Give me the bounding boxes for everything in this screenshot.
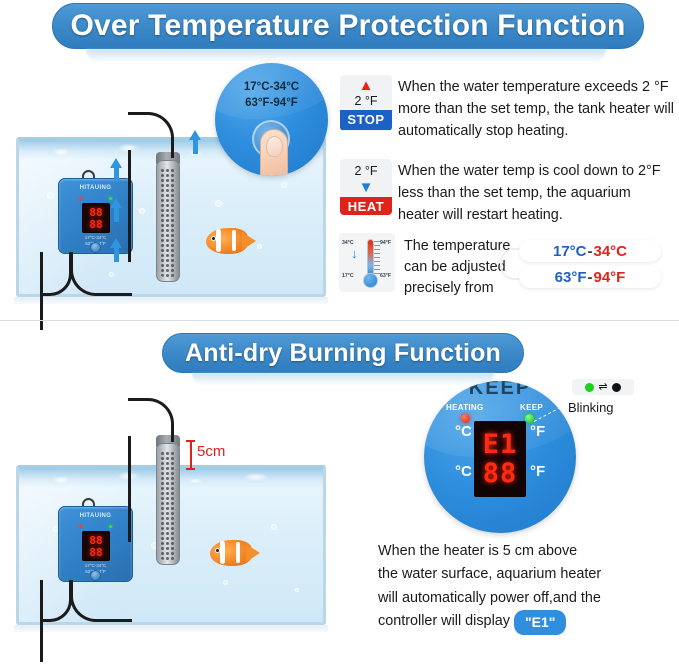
flow-arrow-stem xyxy=(114,168,119,182)
water-flow-arrow-icon xyxy=(110,238,122,248)
desc-line-2: the water surface, aquarium heater xyxy=(378,566,601,582)
arrow-up-icon: ▲ xyxy=(359,78,374,93)
heater-cable-vertical-one xyxy=(128,150,131,262)
water-flow-arrow-icon xyxy=(110,198,122,208)
keep-led-icon xyxy=(525,414,534,423)
thermometer-bottom-celsius: 17°C xyxy=(342,273,354,279)
magnified-fahrenheit-range: 63°F-94°F xyxy=(215,96,328,112)
controller-brand-label-two: HITAUING xyxy=(59,513,132,519)
banner-reflection-one xyxy=(86,49,606,63)
stop-threshold-value: 2 °F xyxy=(354,94,377,108)
heater-cable-upper-two xyxy=(128,398,174,442)
fish-stripe xyxy=(236,542,240,563)
celsius-high: 34°C xyxy=(594,243,628,260)
thermometer-tube xyxy=(367,239,374,277)
clownfish-illustration-two xyxy=(200,540,266,566)
fish-eye xyxy=(215,548,220,553)
heater-cable-vertical-two xyxy=(128,436,131,542)
unit-celsius-top: °C xyxy=(455,423,472,440)
heater-cable-lower-two xyxy=(70,580,132,622)
bubble xyxy=(215,200,222,207)
tank-base-one xyxy=(14,297,328,304)
heat-threshold-value: 2 °F xyxy=(354,164,377,178)
bubble xyxy=(223,580,228,585)
fahrenheit-low: 63°F xyxy=(555,269,587,286)
anti-dry-description: When the heater is 5 cm above the water … xyxy=(378,540,674,635)
led-display-top: 88 xyxy=(89,207,102,218)
unit-fahrenheit-top: °F xyxy=(530,423,545,440)
heater-perforations xyxy=(160,451,176,560)
heat-tag: HEAT xyxy=(340,197,392,215)
heating-indicator-label: HEATING xyxy=(446,403,484,412)
celsius-range-pill: 17°C - 34°C xyxy=(519,240,661,262)
unit-fahrenheit-bottom: °F xyxy=(530,463,545,480)
fish-eye xyxy=(211,236,216,241)
error-led-screen: E1 88 xyxy=(474,421,526,497)
section-divider xyxy=(0,320,679,321)
fish-stripe xyxy=(216,229,221,252)
led-display-top: 88 xyxy=(89,535,102,546)
bubble xyxy=(271,524,277,530)
magnified-error-display: KEEP HEATING KEEP °C °F °C °F E1 88 xyxy=(424,381,576,533)
desc-line-1: When the heater is 5 cm above xyxy=(378,543,577,559)
heat-description: When the water temp is cool down to 2°F … xyxy=(398,161,670,227)
led-display-bottom: 88 xyxy=(89,547,102,558)
secondary-display: 88 xyxy=(483,460,518,487)
keep-indicator-label: KEEP xyxy=(520,403,543,412)
controller-led-screen-two: 88 88 xyxy=(82,531,110,561)
thermometer-bottom-fahrenheit: 63°F xyxy=(380,273,391,279)
stop-description: When the water temperature exceeds 2 °F … xyxy=(398,77,676,143)
stop-badge: ▲ 2 °F STOP xyxy=(340,75,392,131)
thermometer-arrow-icon: ↓ xyxy=(351,247,358,260)
distance-label: 5cm xyxy=(197,443,225,460)
blink-green-dot-icon xyxy=(585,383,594,392)
blink-black-dot-icon xyxy=(612,383,621,392)
thermometer-icon: 34°C 94°F 17°C 63°F ↓ xyxy=(339,233,395,292)
heater-perforations xyxy=(160,168,176,277)
thermometer-ticks xyxy=(374,241,380,277)
heater-cable-lower-one xyxy=(70,252,132,296)
heater-controller-two[interactable]: HITAUING 88 88 17°C-34°C 63°F-94°F xyxy=(58,506,133,582)
fahrenheit-high: 94°F xyxy=(594,269,626,286)
heating-lamp-icon xyxy=(79,197,82,200)
desc-line-4: controller will display xyxy=(378,613,510,629)
desc-line-3: will automatically power off,and the xyxy=(378,590,601,606)
fish-tail xyxy=(246,544,260,562)
magnified-celsius-range: 17°C-34°C xyxy=(215,80,328,96)
water-flow-arrow-icon xyxy=(189,130,201,140)
error-code-pill: "E1" xyxy=(514,610,566,635)
led-display-bottom: 88 xyxy=(89,219,102,230)
fish-stripe xyxy=(232,230,236,251)
clownfish-illustration-one xyxy=(196,228,262,254)
bubble xyxy=(47,192,54,199)
pressing-finger-icon xyxy=(260,129,288,176)
unit-celsius-bottom: °C xyxy=(455,463,472,480)
fahrenheit-range-pill: 63°F - 94°F xyxy=(519,266,661,288)
magnified-top-partial-label: KEEP xyxy=(424,381,576,400)
heating-lamp-icon xyxy=(79,525,82,528)
blinking-label: Blinking xyxy=(568,400,668,415)
fish-tail xyxy=(242,232,256,250)
infographic-page: Over Temperature Protection Function HIT… xyxy=(0,0,679,669)
blinking-legend-icon: ⇌ xyxy=(572,379,634,395)
section-one-title-banner: Over Temperature Protection Function xyxy=(52,3,644,49)
celsius-low: 17°C xyxy=(553,243,587,260)
controller-brand-label: HITAUING xyxy=(59,185,132,191)
arrow-down-icon: ▼ xyxy=(359,180,374,195)
stop-tag: STOP xyxy=(340,110,392,130)
heater-tube-one xyxy=(156,160,180,282)
bubble xyxy=(139,208,145,214)
fingernail xyxy=(266,136,283,157)
thermometer-top-fahrenheit: 94°F xyxy=(380,240,391,246)
flow-arrow-stem xyxy=(193,140,198,154)
keep-lamp-icon xyxy=(109,525,112,528)
heating-led-icon xyxy=(461,414,470,423)
fish-stripe xyxy=(220,541,225,564)
heater-tube-two xyxy=(156,443,180,565)
heater-cable-upper-one xyxy=(128,112,174,158)
blink-arrows-icon: ⇌ xyxy=(598,382,607,393)
flow-arrow-stem xyxy=(114,248,119,262)
magnified-button-view: 17°C-34°C 63°F-94°F xyxy=(215,63,328,176)
controller-led-screen: 88 88 xyxy=(82,203,110,233)
distance-bracket-icon xyxy=(186,440,195,470)
heat-badge: 2 °F ▼ HEAT xyxy=(340,159,392,215)
bubble xyxy=(295,588,299,592)
celsius-dash: - xyxy=(588,243,593,260)
flow-arrow-stem xyxy=(114,208,119,222)
water-flow-arrow-icon xyxy=(110,158,122,168)
error-code-display: E1 xyxy=(483,431,518,458)
fahrenheit-dash: - xyxy=(588,269,593,286)
bubble xyxy=(281,182,287,188)
tank-base-two xyxy=(14,625,328,632)
controller-indicator-lamps-two xyxy=(59,525,132,528)
section-two-title-banner: Anti-dry Burning Function xyxy=(162,333,524,373)
